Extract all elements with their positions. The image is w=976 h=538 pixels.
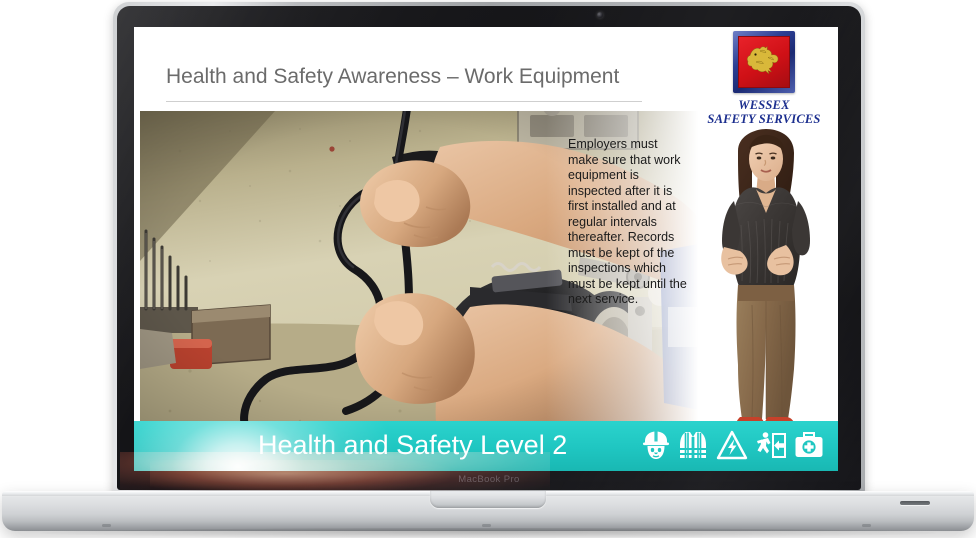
- logo-line-1: WESSEX: [738, 98, 789, 112]
- screenshot-stage: MacBook Pro Health and Safety Awareness …: [0, 0, 976, 534]
- base-foot-left: [102, 524, 111, 527]
- wessex-crest-icon: [733, 31, 795, 93]
- electrical-hazard-triangle-icon: [716, 430, 748, 460]
- device-drop-shadow: [40, 528, 936, 538]
- laptop-screen: Health and Safety Awareness – Work Equip…: [134, 27, 838, 471]
- base-port-slot: [900, 501, 930, 505]
- base-foot-right: [862, 524, 871, 527]
- logo-text: WESSEX SAFETY SERVICES: [702, 98, 826, 126]
- course-banner: Health and Safety Level 2: [134, 421, 838, 471]
- base-latch-notch: [430, 491, 546, 508]
- presenter-figure: [700, 129, 832, 441]
- safety-icon-group: [642, 429, 824, 461]
- logo-line-2: SAFETY SERVICES: [707, 112, 820, 126]
- dragon-icon: [744, 43, 784, 81]
- first-aid-kit-icon: [794, 430, 824, 460]
- presenter-graphic: [700, 129, 832, 441]
- page-title: Health and Safety Awareness – Work Equip…: [166, 65, 619, 89]
- webcam-icon: [597, 12, 603, 18]
- device-wordmark: MacBook Pro: [113, 474, 865, 485]
- banner-title: Health and Safety Level 2: [258, 430, 567, 461]
- slide-header: Health and Safety Awareness – Work Equip…: [134, 27, 838, 111]
- hard-hat-worker-icon: [642, 429, 670, 461]
- crest-field: [738, 36, 790, 88]
- fire-exit-running-man-icon: [755, 429, 787, 461]
- base-foot-center: [482, 524, 491, 527]
- slide-body-text: Employers must make sure that work equip…: [568, 137, 690, 308]
- wessex-logo: WESSEX SAFETY SERVICES: [702, 31, 826, 126]
- title-divider: [166, 101, 642, 102]
- hi-vis-vest-icon: [677, 429, 709, 461]
- laptop-base: [2, 491, 974, 531]
